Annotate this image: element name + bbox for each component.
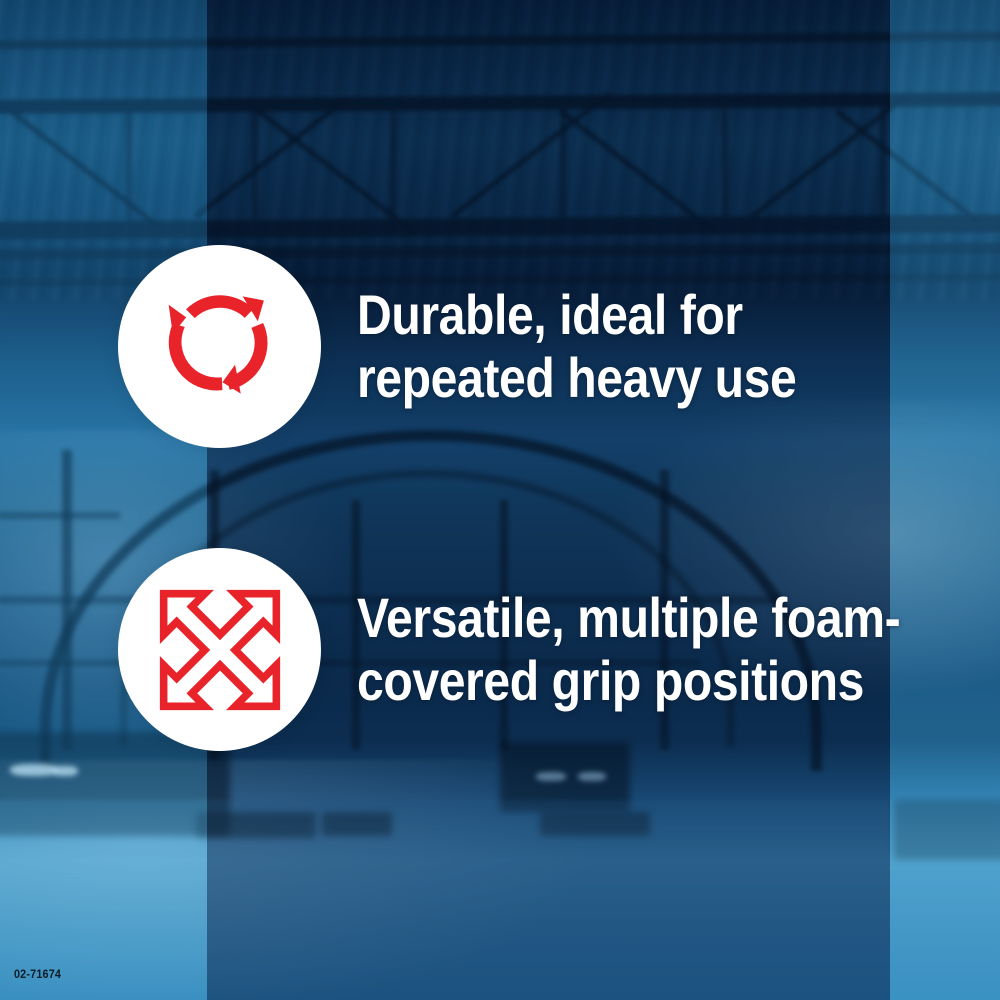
feature-label-versatile: Versatile, multiple foam- covered grip p… [357,587,900,712]
feature-item-durable: Durable, ideal for repeated heavy use [118,245,868,448]
product-feature-banner: Durable, ideal for repeated heavy use Ve… [0,0,1000,1000]
feature-item-versatile: Versatile, multiple foam- covered grip p… [118,548,989,751]
product-code-label: 02-71674 [14,967,61,981]
expand-four-arrows-icon [155,585,285,715]
feature-label-durable: Durable, ideal for repeated heavy use [357,284,796,409]
feature-list: Durable, ideal for repeated heavy use Ve… [0,0,1000,1000]
feature-icon-badge [118,548,321,751]
recycle-cycle-arrows-icon [150,277,290,417]
feature-icon-badge [118,245,321,448]
